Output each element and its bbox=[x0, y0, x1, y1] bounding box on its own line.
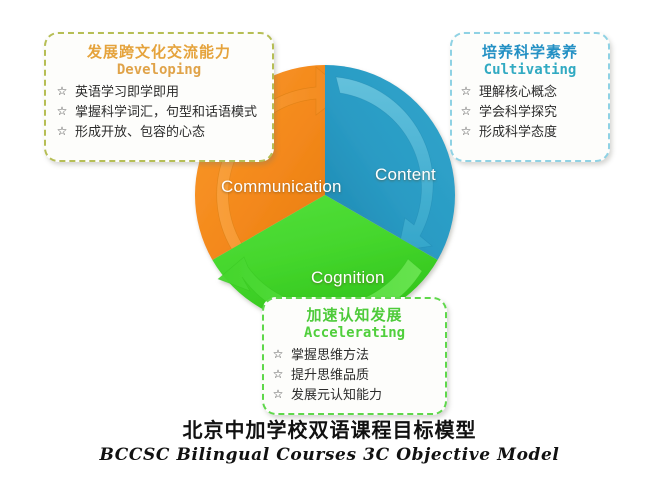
list-item-label: 形成科学态度 bbox=[474, 122, 557, 142]
list-item: ☆ 英语学习即学即用 bbox=[54, 82, 264, 102]
callout-accelerating[interactable]: 加速认知发展 Accelerating ☆ 掌握思维方法 ☆ 提升思维品质 ☆ … bbox=[262, 297, 447, 415]
caption-chinese: 北京中加学校双语课程目标模型 bbox=[0, 418, 659, 442]
callout-developing-list: ☆ 英语学习即学即用 ☆ 掌握科学词汇，句型和话语模式 ☆ 形成开放、包容的心态 bbox=[54, 82, 264, 142]
list-item: ☆ 形成科学态度 bbox=[458, 122, 602, 142]
list-item: ☆ 发展元认知能力 bbox=[270, 385, 439, 405]
list-item: ☆ 形成开放、包容的心态 bbox=[54, 122, 264, 142]
star-icon: ☆ bbox=[458, 82, 474, 102]
diagram-canvas: Communication Content Cognition 发展跨文化交流能… bbox=[0, 0, 659, 481]
callout-cultivating-subtitle: Cultivating bbox=[458, 63, 602, 78]
list-item-label: 发展元认知能力 bbox=[286, 385, 382, 405]
callout-accelerating-subtitle: Accelerating bbox=[270, 326, 439, 341]
star-icon: ☆ bbox=[270, 385, 286, 405]
star-icon: ☆ bbox=[54, 122, 70, 142]
star-icon: ☆ bbox=[458, 102, 474, 122]
list-item: ☆ 理解核心概念 bbox=[458, 82, 602, 102]
list-item-label: 形成开放、包容的心态 bbox=[70, 122, 205, 142]
callout-developing-subtitle: Developing bbox=[54, 63, 264, 78]
callout-cultivating-title: 培养科学素养 bbox=[458, 44, 602, 61]
callout-cultivating[interactable]: 培养科学素养 Cultivating ☆ 理解核心概念 ☆ 学会科学探究 ☆ 形… bbox=[450, 32, 610, 162]
list-item-label: 掌握思维方法 bbox=[286, 345, 369, 365]
list-item: ☆ 学会科学探究 bbox=[458, 102, 602, 122]
list-item-label: 理解核心概念 bbox=[474, 82, 557, 102]
list-item: ☆ 掌握科学词汇，句型和话语模式 bbox=[54, 102, 264, 122]
list-item: ☆ 掌握思维方法 bbox=[270, 345, 439, 365]
star-icon: ☆ bbox=[270, 365, 286, 385]
callout-developing-title: 发展跨文化交流能力 bbox=[54, 44, 264, 61]
caption-english: BCCSC Bilingual Courses 3C Objective Mod… bbox=[0, 445, 659, 465]
list-item: ☆ 提升思维品质 bbox=[270, 365, 439, 385]
star-icon: ☆ bbox=[270, 345, 286, 365]
list-item-label: 学会科学探究 bbox=[474, 102, 557, 122]
callout-developing[interactable]: 发展跨文化交流能力 Developing ☆ 英语学习即学即用 ☆ 掌握科学词汇… bbox=[44, 32, 274, 162]
caption: 北京中加学校双语课程目标模型 BCCSC Bilingual Courses 3… bbox=[0, 418, 659, 465]
list-item-label: 提升思维品质 bbox=[286, 365, 369, 385]
star-icon: ☆ bbox=[458, 122, 474, 142]
callout-accelerating-list: ☆ 掌握思维方法 ☆ 提升思维品质 ☆ 发展元认知能力 bbox=[270, 345, 439, 405]
star-icon: ☆ bbox=[54, 82, 70, 102]
callout-accelerating-title: 加速认知发展 bbox=[270, 307, 439, 324]
callout-cultivating-list: ☆ 理解核心概念 ☆ 学会科学探究 ☆ 形成科学态度 bbox=[458, 82, 602, 142]
list-item-label: 掌握科学词汇，句型和话语模式 bbox=[70, 102, 257, 122]
list-item-label: 英语学习即学即用 bbox=[70, 82, 179, 102]
star-icon: ☆ bbox=[54, 102, 70, 122]
